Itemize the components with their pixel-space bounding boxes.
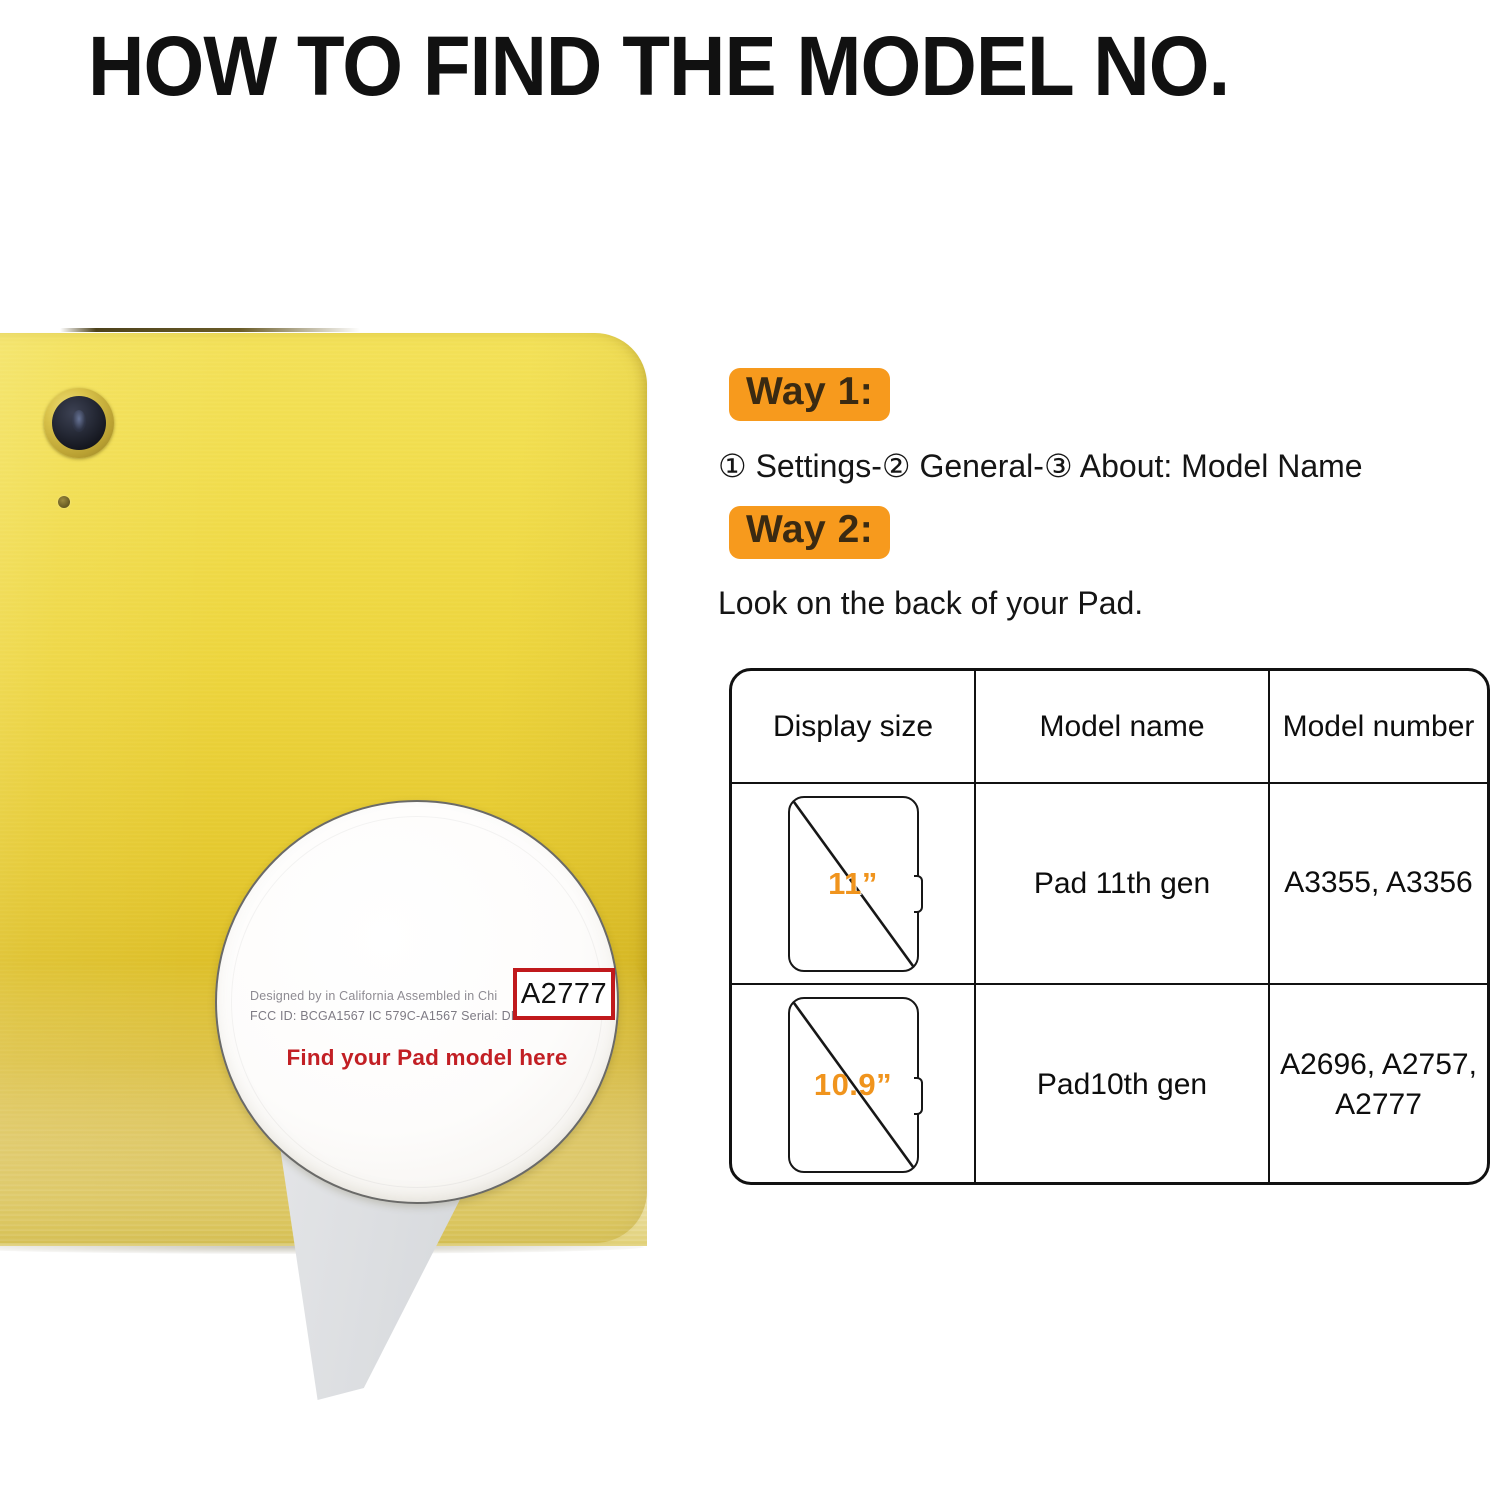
instructions-panel: Way 1: ① Settings-② General-③ About: Mod… [718,0,1500,1500]
regulatory-label-line-1: Designed by in California Assembled in C… [250,989,497,1005]
find-model-callout: Find your Pad model here [267,1045,587,1071]
header-model-number: Model number [1269,671,1487,783]
model-number-value: A2777 [521,978,607,1011]
model-number-highlight-box: A2777 [513,968,615,1020]
way-2-text: Look on the back of your Pad. [718,585,1143,622]
cell-display-size: 11” [732,783,975,984]
cell-model-name: Pad10th gen [975,984,1269,1185]
cell-model-number: A3355, A3356 [1269,783,1487,984]
header-model-name: Model name [975,671,1269,783]
tablet-size-icon: 10.9” [788,997,919,1173]
camera-lens-icon [52,396,106,450]
table-header-row: Display size Model name Model number [732,671,1487,783]
tablet-top-edge [60,328,360,332]
way-2-badge: Way 2: [729,506,890,559]
tablet-illustration: Pad Designed by in California Assembled … [0,300,660,1500]
header-display-size: Display size [732,671,975,783]
microphone-dot-icon [58,496,70,508]
model-spec-table: Display size Model name Model number 11”… [729,668,1490,1185]
cell-model-name: Pad 11th gen [975,783,1269,984]
cell-display-size: 10.9” [732,984,975,1185]
cell-model-number: A2696, A2757, A2777 [1269,984,1487,1185]
camera-icon [44,388,114,458]
way-1-badge: Way 1: [729,368,890,421]
camera-glint [72,410,86,432]
table-row: 11” Pad 11th gen A3355, A3356 [732,783,1487,984]
way-1-text: ① Settings-② General-③ About: Model Name [718,447,1363,485]
table-row: 10.9” Pad10th gen A2696, A2757, A2777 [732,984,1487,1185]
display-size-label: 10.9” [788,1067,919,1103]
tablet-size-icon: 11” [788,796,919,972]
display-size-label: 11” [788,866,919,902]
